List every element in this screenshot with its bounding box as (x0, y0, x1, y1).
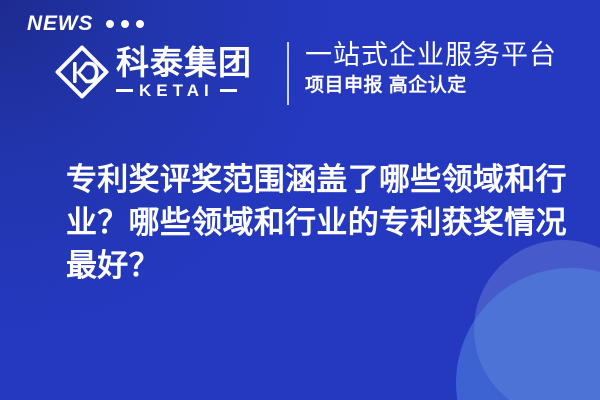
news-label: NEWS (27, 13, 93, 34)
brand-divider (287, 42, 289, 105)
brand-names: 科泰集团 KETAI (116, 45, 252, 99)
brand-rule-left-icon (116, 89, 133, 92)
brand-name-cn: 科泰集团 (116, 45, 252, 81)
brand-name-en-row: KETAI (116, 82, 252, 99)
brand-rule-right-icon (220, 89, 237, 92)
brand-name-en: KETAI (139, 82, 214, 99)
news-dot-icon (121, 20, 129, 28)
decorative-circle-front (456, 268, 600, 400)
news-dot-icon (136, 20, 144, 28)
slogan-sub: 项目申报 高企认定 (305, 75, 557, 98)
news-banner: NEWS 科泰集团 KETAI (0, 0, 600, 400)
ketai-diamond-monogram-icon (52, 42, 112, 102)
news-dots-icon (106, 20, 144, 28)
news-dot-icon (106, 20, 114, 28)
slogan-main: 一站式企业服务平台 (305, 40, 557, 71)
eyebrow-news: NEWS (27, 13, 144, 34)
brand-lockup: 科泰集团 KETAI (52, 42, 252, 102)
headline-text: 专利奖评奖范围涵盖了哪些领域和行业？哪些领域和行业的专利获奖情况最好？ (66, 158, 574, 287)
slogan-block: 一站式企业服务平台 项目申报 高企认定 (305, 40, 557, 98)
